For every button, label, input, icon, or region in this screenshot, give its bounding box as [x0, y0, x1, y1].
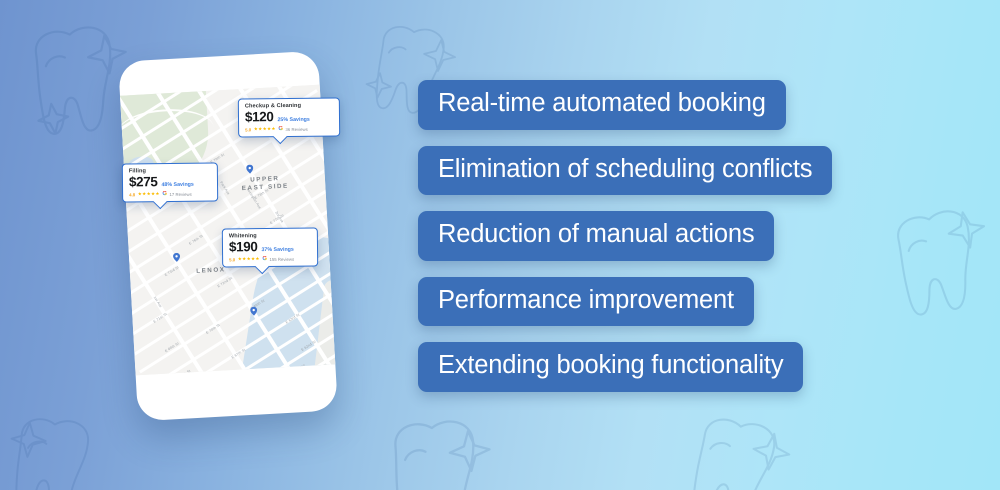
feature-pill-real-time-automated-booking[interactable]: Real-time automated booking: [418, 80, 786, 130]
google-g-icon: G: [162, 191, 167, 197]
price-card-whitening[interactable]: Whitening $190 37% Savings 5.0 ★★★★★ G 1…: [222, 227, 318, 267]
tooth-icon: [671, 403, 800, 490]
feature-pill-performance-improvement[interactable]: Performance improvement: [418, 277, 754, 327]
price-card-checkup-cleaning[interactable]: Checkup & Cleaning $120 25% Savings 5.0 …: [238, 97, 340, 137]
price-card-filling[interactable]: Filling $275 48% Savings 4.8 ★★★★★ G 17 …: [122, 162, 218, 202]
feature-pill-elimination-of-scheduling-conflicts[interactable]: Elimination of scheduling conflicts: [418, 146, 832, 196]
feature-pill-reduction-of-manual-actions[interactable]: Reduction of manual actions: [418, 211, 774, 261]
promo-banner: 5th Ave Madison Ave Park Ave Lexington A…: [0, 0, 1000, 490]
map-pin-icon[interactable]: [250, 306, 257, 315]
star-rating-icon: ★★★★★: [238, 257, 260, 262]
price-card-rating: 5.0: [229, 257, 235, 262]
map-pin-icon[interactable]: [173, 253, 180, 262]
price-card-reviews: 155 Reviews: [269, 256, 294, 261]
star-rating-icon: ★★★★★: [254, 127, 276, 132]
star-rating-icon: ★★★★★: [138, 192, 160, 197]
street-label: E 59th St: [262, 374, 274, 375]
price-card-savings: 25% Savings: [277, 117, 309, 123]
price-card-savings: 37% Savings: [261, 247, 293, 253]
neighborhood-label-upper-east-side: UPPEREAST SIDE: [233, 174, 298, 194]
price-card-rating: 4.8: [129, 192, 135, 197]
tooth-icon: [370, 406, 505, 490]
feature-list: Real-time automated booking Elimination …: [418, 80, 832, 392]
price-card-price: $120: [245, 110, 274, 124]
price-card-price: $190: [229, 240, 258, 254]
tooth-icon: [0, 407, 110, 490]
price-card-reviews: 17 Reviews: [169, 191, 191, 196]
feature-pill-extending-booking-functionality[interactable]: Extending booking functionality: [418, 342, 803, 392]
price-card-reviews: 36 Reviews: [285, 126, 307, 131]
map-pin-icon[interactable]: [246, 164, 253, 173]
tooth-icon: [872, 193, 1000, 330]
price-card-price: $275: [129, 175, 158, 189]
price-card-savings: 48% Savings: [161, 182, 193, 188]
price-card-rating: 5.0: [245, 127, 251, 132]
